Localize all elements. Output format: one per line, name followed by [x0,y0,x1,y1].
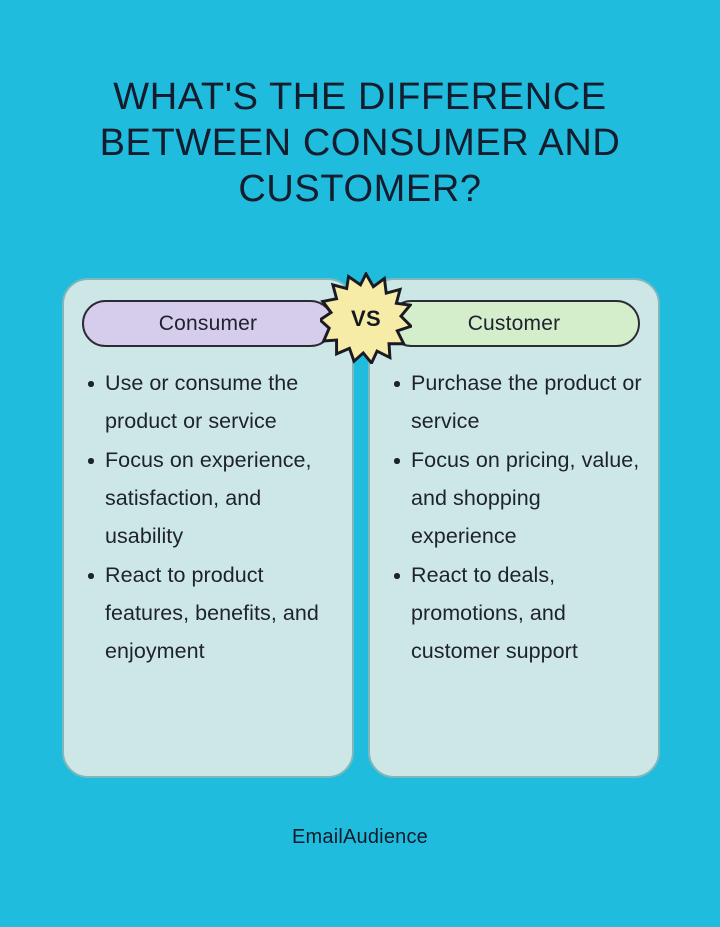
versus-starburst-badge: VS [320,272,412,364]
list-item: Focus on experience, satisfaction, and u… [84,441,342,555]
infographic-poster: WHAT'S THE DIFFERENCE BETWEEN CONSUMER A… [0,0,720,927]
title-line-1: WHAT'S THE DIFFERENCE [50,74,670,120]
customer-bullet-list: Purchase the product or service Focus on… [390,364,648,671]
list-item: Purchase the product or service [390,364,648,440]
list-item: React to deals, promotions, and customer… [390,556,648,670]
title-line-2: BETWEEN CONSUMER AND [50,120,670,166]
footer-brand: EmailAudience [0,826,720,849]
consumer-heading-label: Consumer [159,312,257,336]
list-item: Use or consume the product or service [84,364,342,440]
versus-label: VS [320,272,412,364]
customer-heading-pill: Customer [388,300,640,347]
customer-heading-label: Customer [468,312,561,336]
title-line-3: CUSTOMER? [50,166,670,212]
consumer-bullet-list: Use or consume the product or service Fo… [84,364,342,671]
list-item: React to product features, benefits, and… [84,556,342,670]
consumer-card: Consumer Use or consume the product or s… [62,278,354,778]
page-title: WHAT'S THE DIFFERENCE BETWEEN CONSUMER A… [50,74,670,212]
list-item: Focus on pricing, value, and shopping ex… [390,441,648,555]
consumer-heading-pill: Consumer [82,300,334,347]
